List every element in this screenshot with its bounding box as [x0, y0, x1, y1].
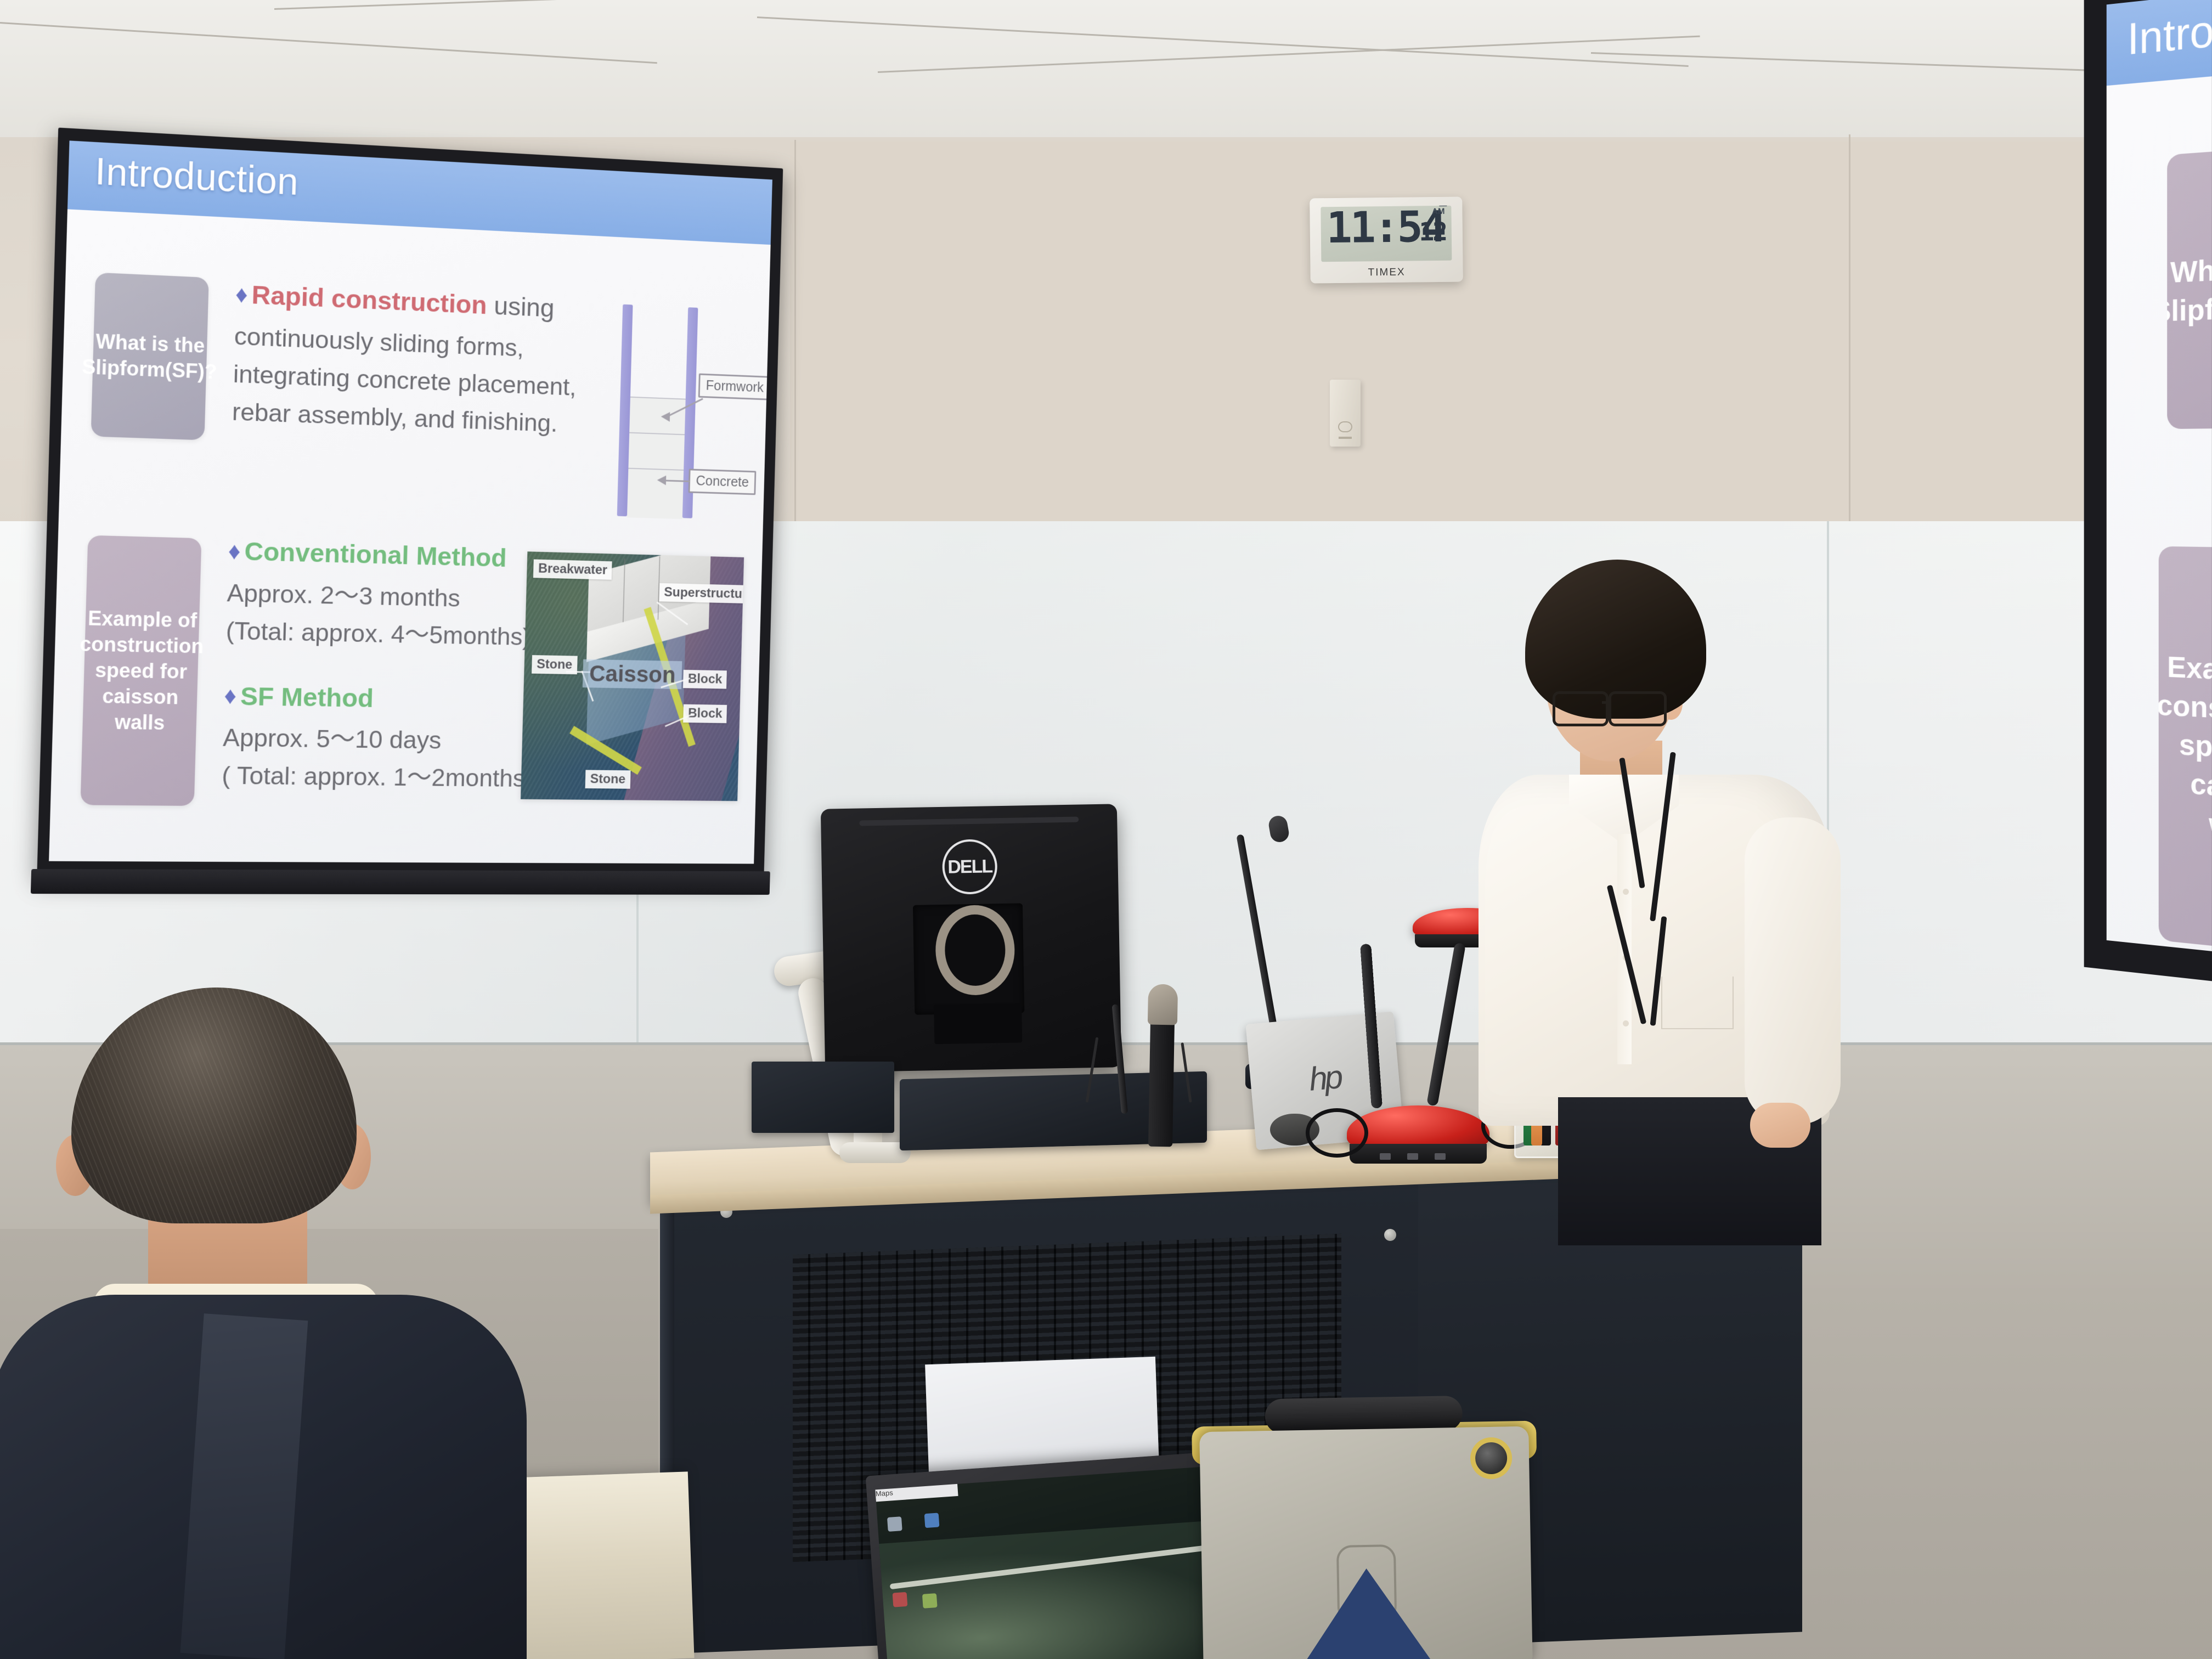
concrete-lift-2: [628, 432, 685, 471]
shirt-button: [1623, 889, 1629, 895]
audience-hair: [71, 988, 357, 1223]
wall-seam: [1849, 134, 1850, 529]
wall-motion-sensor: [1330, 380, 1361, 447]
bullet-diamond-icon: ♦: [224, 682, 237, 709]
presenter-shirt-pocket: [1661, 977, 1734, 1029]
shirt-button: [1623, 1020, 1629, 1026]
heading-conventional-method: Conventional Method: [244, 536, 507, 572]
bullet-diamond-icon: ♦: [228, 538, 241, 565]
concrete-lift-1: [629, 397, 686, 436]
hp-logo-icon: hp: [1307, 1058, 1342, 1099]
desktop-icon[interactable]: [924, 1513, 940, 1528]
presentation-slide: Introduction What is the Slipform(SF)? ♦…: [49, 140, 772, 864]
sensor-lens-icon: [1338, 421, 1352, 432]
formwork-diagram: Formwork Concrete: [608, 304, 756, 524]
label-stone-lower: Stone: [585, 770, 631, 788]
accent-rapid-construction: Rapid construction: [251, 280, 487, 319]
formwork-arrow-icon: [661, 411, 670, 421]
audio-amplifier-unit: [752, 1062, 894, 1133]
secondary-chip-what-is-slipform: What is the Slipform(SF)?: [2167, 143, 2212, 429]
document-camera-base-unit[interactable]: [1347, 1105, 1489, 1164]
clock-meridiem: AM: [1432, 207, 1445, 216]
microphone-capsule-icon: [1148, 984, 1178, 1025]
projection-screen-frame: Introduction What is the Slipform(SF)? ♦…: [37, 128, 783, 879]
podium-screw: [1384, 1229, 1396, 1241]
usb-port-icon: [1407, 1153, 1418, 1160]
clock-signal-icon: [1439, 206, 1447, 206]
document-camera-base-dome: [1347, 1105, 1489, 1148]
secondary-chip-construction-speed: Example of construction speed for caisso…: [2159, 546, 2212, 957]
desktop-icon[interactable]: [922, 1593, 938, 1609]
dell-monitor: DELL: [821, 804, 1121, 1072]
tablet-on-stand[interactable]: [1199, 1426, 1533, 1659]
projection-screen: Introduction What is the Slipform(SF)? ♦…: [36, 128, 783, 917]
wall-clock: 11:54 12 AM TIMEX: [1310, 197, 1463, 284]
audience-hair-texture: [71, 988, 357, 1223]
conference-room-photo: Introduction What is the Slipform(SF)? ♦…: [0, 0, 2212, 1659]
desktop-icon[interactable]: [893, 1592, 908, 1607]
clock-lcd-display: 11:54 12 AM: [1321, 206, 1452, 262]
projection-screen-weight-bar: [31, 869, 770, 895]
definition-line-1: continuously sliding forms,: [234, 318, 584, 368]
clock-brand: TIMEX: [1311, 266, 1463, 280]
desktop-icon[interactable]: [887, 1516, 902, 1532]
caisson-breakwater-photo: Breakwater Superstructure Stone Caisson …: [521, 551, 744, 801]
presenter-glasses-left-lens: [1553, 691, 1609, 726]
chip-label: What is the Slipform(SF)?: [82, 328, 218, 385]
chip-label: Example of construction speed for caisso…: [77, 605, 205, 736]
presenter-glasses-bridge: [1602, 701, 1611, 704]
presenter-hand: [1750, 1103, 1810, 1148]
handheld-microphone[interactable]: [1148, 1020, 1175, 1147]
clock-seconds: 12: [1419, 217, 1446, 247]
coiled-cable: [1306, 1108, 1368, 1158]
serial-port-icon: [1435, 1153, 1446, 1160]
concrete-lift-3: [627, 468, 684, 520]
sensor-vent-icon: [1339, 437, 1352, 439]
slide-chip-what-is-slipform: What is the Slipform(SF)?: [91, 273, 209, 441]
monitor-connector-bay: [934, 1003, 1022, 1044]
heading-sf-method: SF Method: [240, 681, 374, 712]
audience-member: [11, 988, 560, 1659]
label-block-lower: Block: [683, 704, 727, 723]
presenter-glasses-right-lens: [1609, 691, 1667, 726]
chip-label: What is the Slipform(SF)?: [2167, 244, 2212, 331]
slide-title: Introduction: [94, 152, 299, 201]
vga-port-icon: [1380, 1153, 1391, 1160]
secondary-slide: Introduction What is the Slipform(SF)? E…: [2107, 0, 2212, 957]
chip-label: Example of construction speed for caisso…: [2159, 647, 2212, 854]
formwork-callout: Formwork: [698, 374, 771, 400]
label-superstructure: Superstructure: [659, 583, 744, 604]
wall-panel: [790, 142, 2212, 526]
label-breakwater: Breakwater: [533, 559, 612, 579]
tablet-stand-base: [1292, 1567, 1443, 1659]
bullet-rest: using: [487, 291, 555, 323]
secondary-projection-screen: Introduction What is the Slipform(SF)? E…: [2084, 0, 2212, 986]
bullet-diamond-icon: ♦: [235, 281, 248, 308]
slide-chip-construction-speed: Example of construction speed for caisso…: [80, 535, 201, 806]
slide-body-definition: ♦Rapid construction using continuously s…: [232, 275, 585, 443]
presenter-arm: [1745, 817, 1841, 1125]
concrete-arrow-icon: [657, 475, 666, 485]
wall-seam: [794, 140, 796, 529]
concrete-callout: Concrete: [689, 469, 757, 495]
